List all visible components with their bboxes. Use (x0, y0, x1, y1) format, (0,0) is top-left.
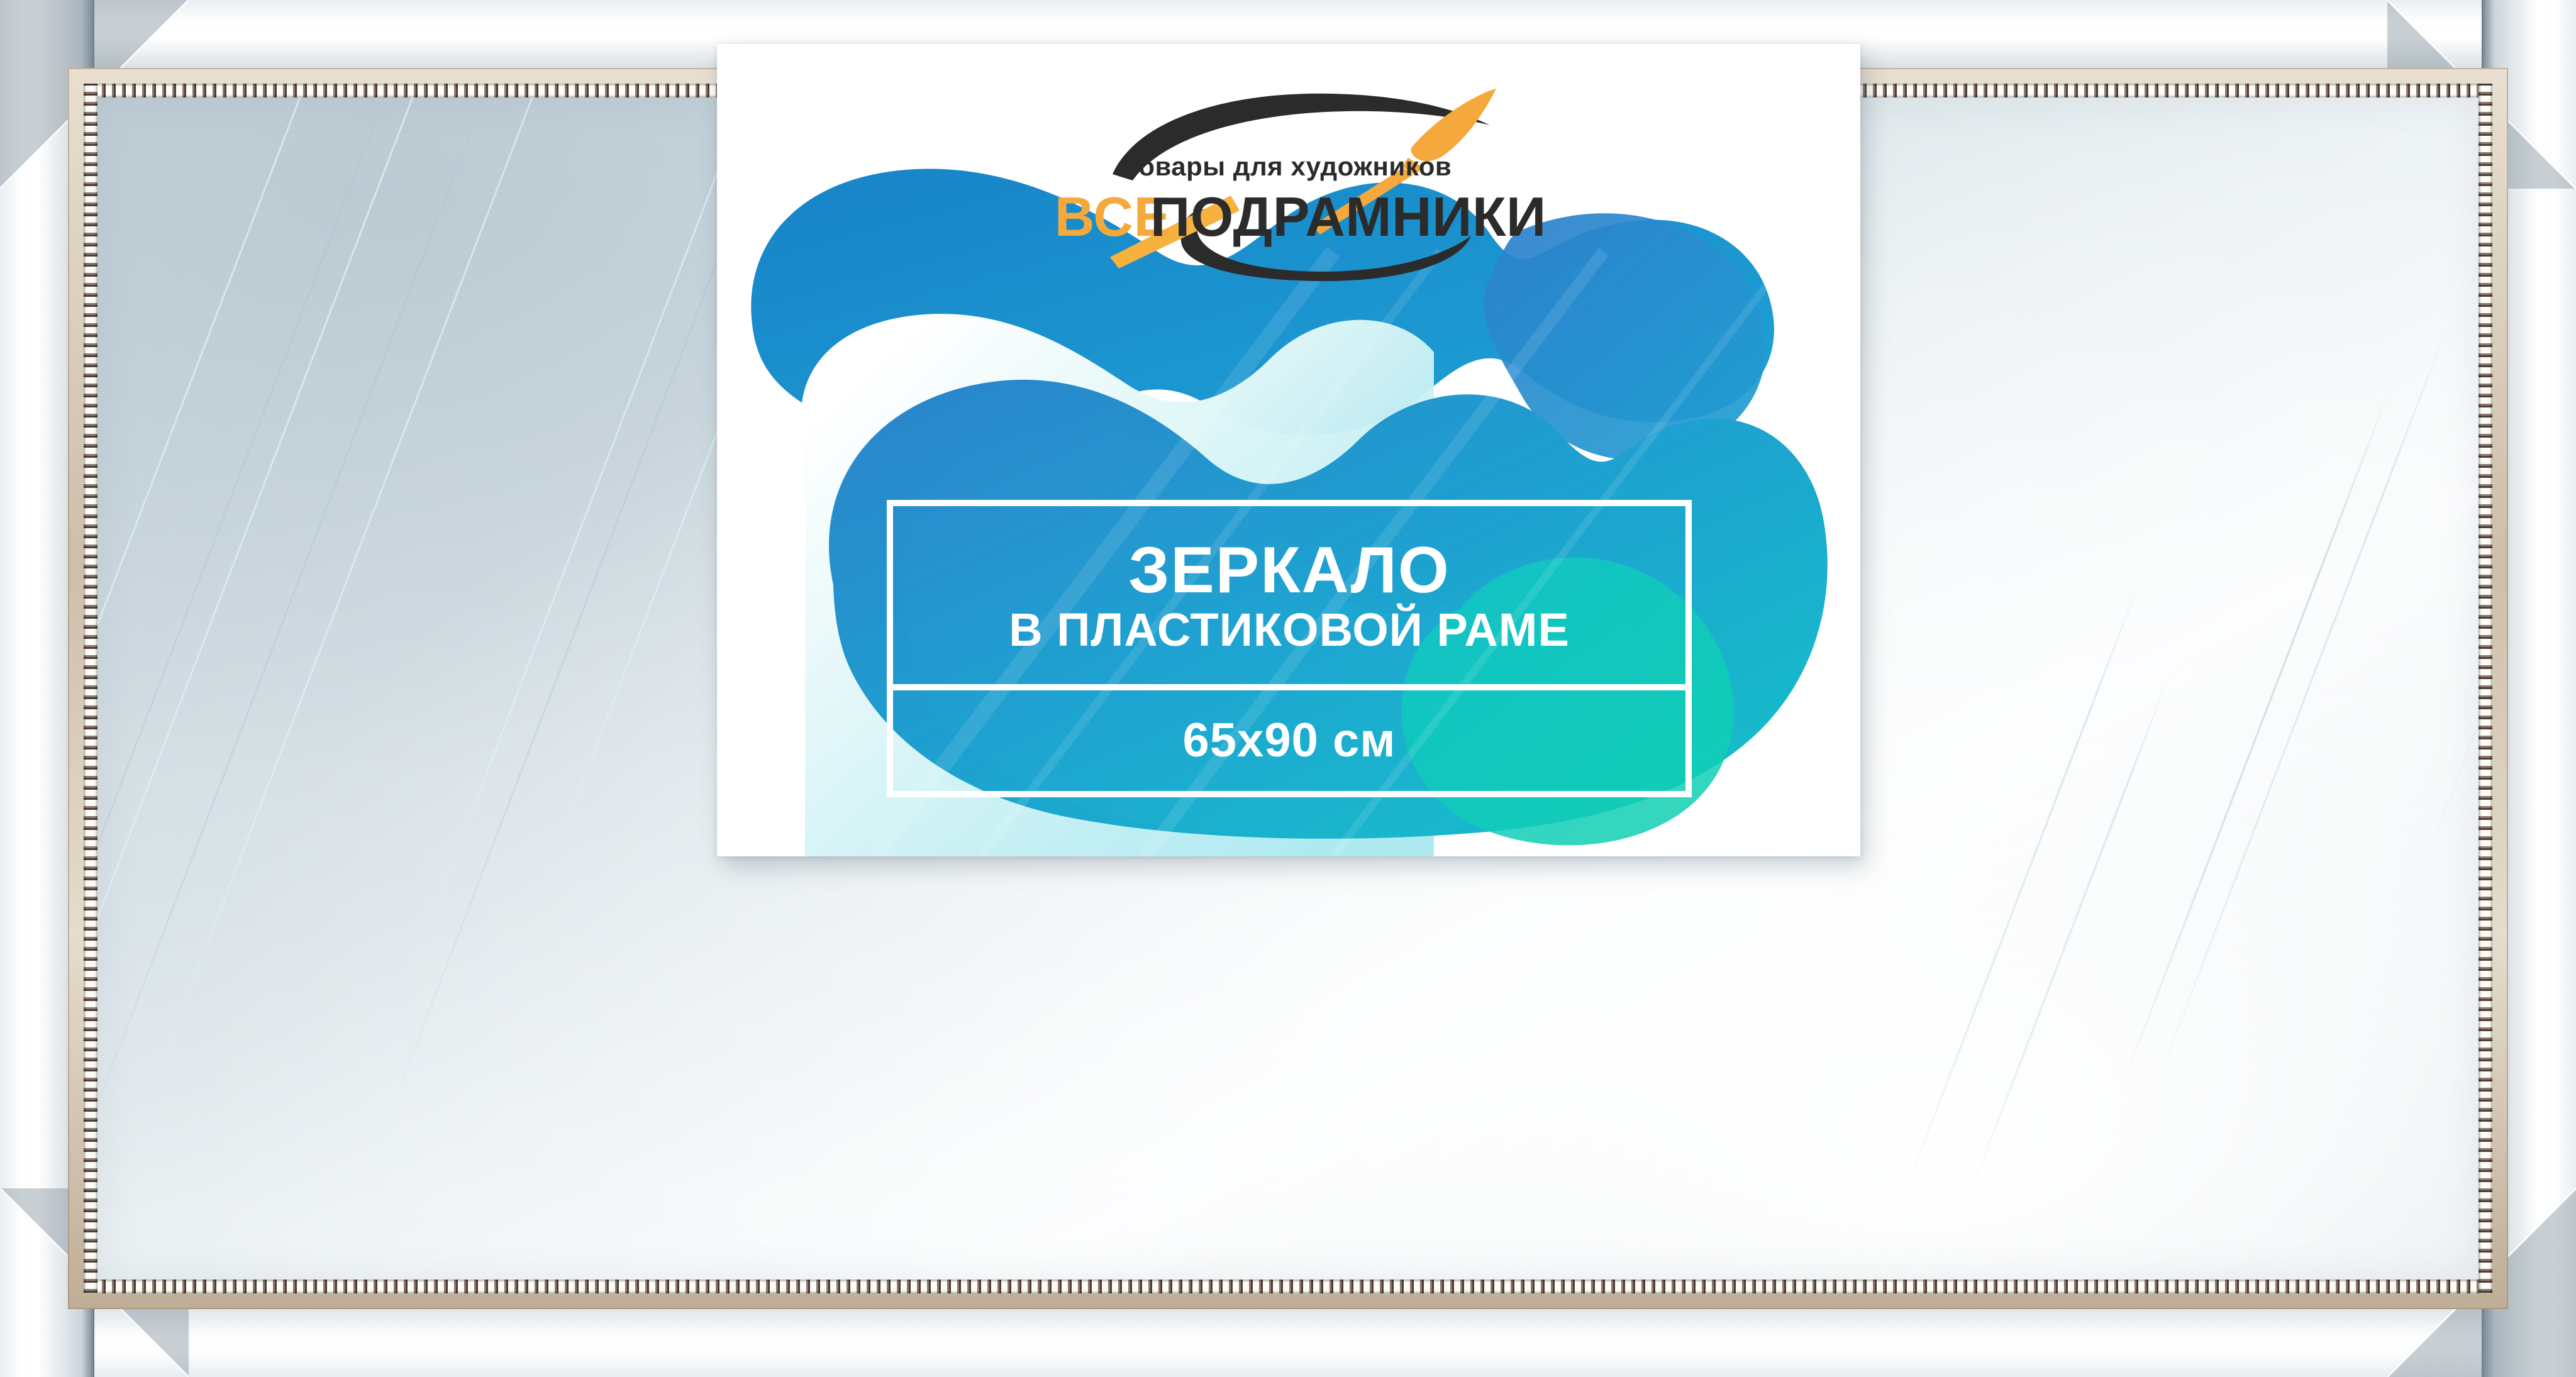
brand-logo-svg: товары для художников ВСЕ ПОДРАМНИКИ (993, 80, 1584, 281)
product-subtitle: В ПЛАСТИКОВОЙ РАМЕ (1009, 607, 1570, 653)
plate-divider (893, 684, 1685, 690)
product-title: ЗЕРКАЛО (1128, 538, 1450, 603)
bead-band-left (84, 84, 97, 1293)
brand-logo: товары для художников ВСЕ ПОДРАМНИКИ (717, 77, 1860, 284)
bead-band-bottom (84, 1280, 2492, 1293)
product-text-plate-lower: 65x90 см (893, 690, 1685, 791)
product-text-plate: ЗЕРКАЛО В ПЛАСТИКОВОЙ РАМЕ 65x90 см (887, 500, 1692, 797)
product-info-card: товары для художников ВСЕ ПОДРАМНИКИ ЗЕР… (717, 44, 1860, 856)
logo-word-main: ПОДРАМНИКИ (1150, 185, 1546, 248)
product-size: 65x90 см (1183, 717, 1396, 765)
product-photo-mirror-in-plastic-frame: товары для художников ВСЕ ПОДРАМНИКИ ЗЕР… (0, 0, 2576, 1377)
product-text-plate-upper: ЗЕРКАЛО В ПЛАСТИКОВОЙ РАМЕ (893, 506, 1685, 684)
logo-tagline: товары для художников (1126, 152, 1452, 181)
bead-band-right (2479, 84, 2492, 1293)
